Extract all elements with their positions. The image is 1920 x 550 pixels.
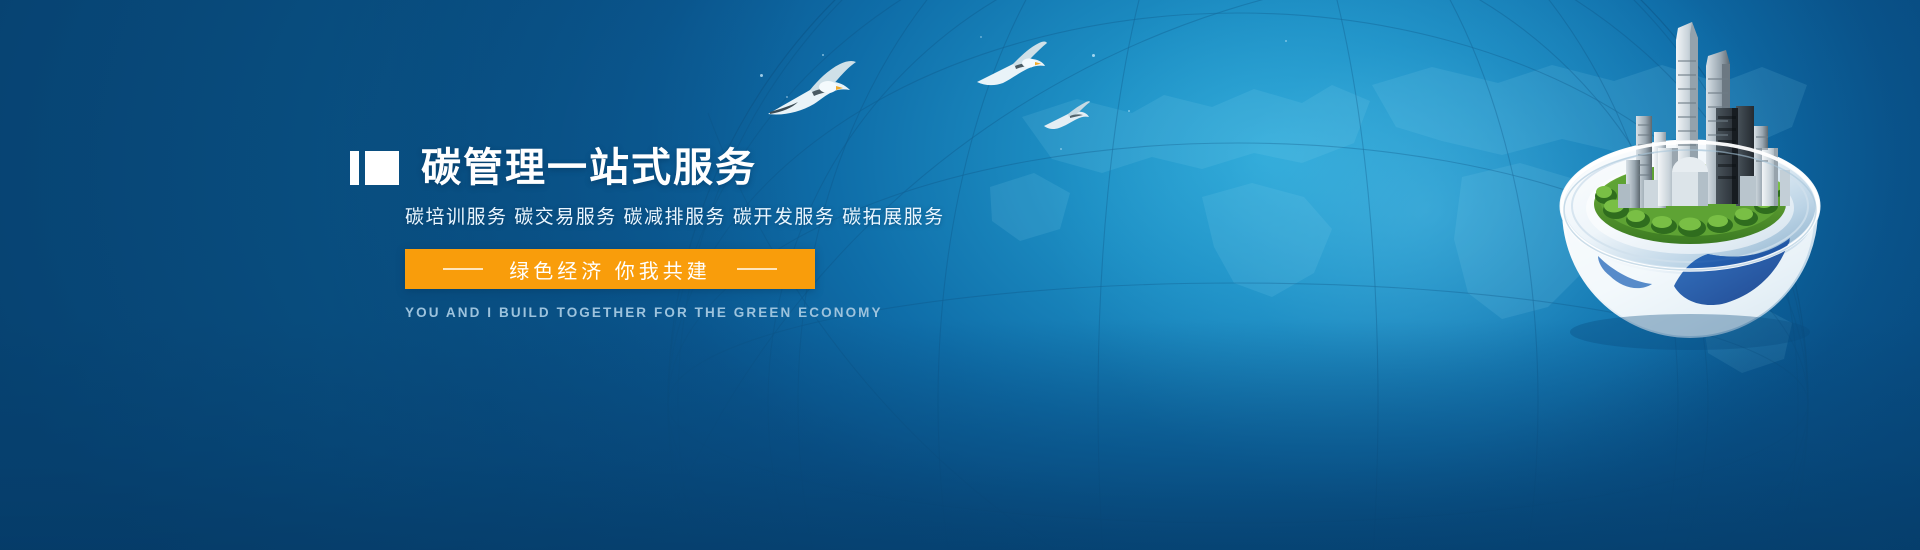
star-speck: [1092, 54, 1095, 57]
banner-content: 碳管理一站式服务 碳培训服务 碳交易服务 碳减排服务 碳开发服务 碳拓展服务 绿…: [350, 148, 990, 320]
hero-banner: 碳管理一站式服务 碳培训服务 碳交易服务 碳减排服务 碳开发服务 碳拓展服务 绿…: [0, 0, 1920, 550]
banner-tagline: YOU AND I BUILD TOGETHER FOR THE GREEN E…: [405, 305, 990, 320]
star-speck: [1128, 110, 1130, 112]
seagull-large-icon: [766, 56, 858, 128]
title-row: 碳管理一站式服务: [350, 148, 990, 188]
star-speck: [1060, 148, 1062, 150]
brand-mark-square: [365, 151, 399, 185]
cta-right-dash-icon: [737, 268, 777, 270]
globe-bowl-city-illustration: [1540, 20, 1840, 350]
banner-subtitle: 碳培训服务 碳交易服务 碳减排服务 碳开发服务 碳拓展服务: [405, 202, 990, 229]
cta-label: 绿色经济 你我共建: [509, 255, 711, 284]
cta-left-dash-icon: [443, 268, 483, 270]
star-speck: [1285, 40, 1287, 42]
seagull-small-icon: [1042, 100, 1090, 134]
cta-banner-button[interactable]: 绿色经济 你我共建: [405, 249, 815, 289]
star-speck: [760, 74, 763, 77]
brand-mark-icon: [350, 151, 399, 185]
banner-title: 碳管理一站式服务: [421, 148, 757, 188]
seagull-medium-icon: [975, 38, 1047, 94]
brand-mark-bar: [350, 151, 359, 185]
